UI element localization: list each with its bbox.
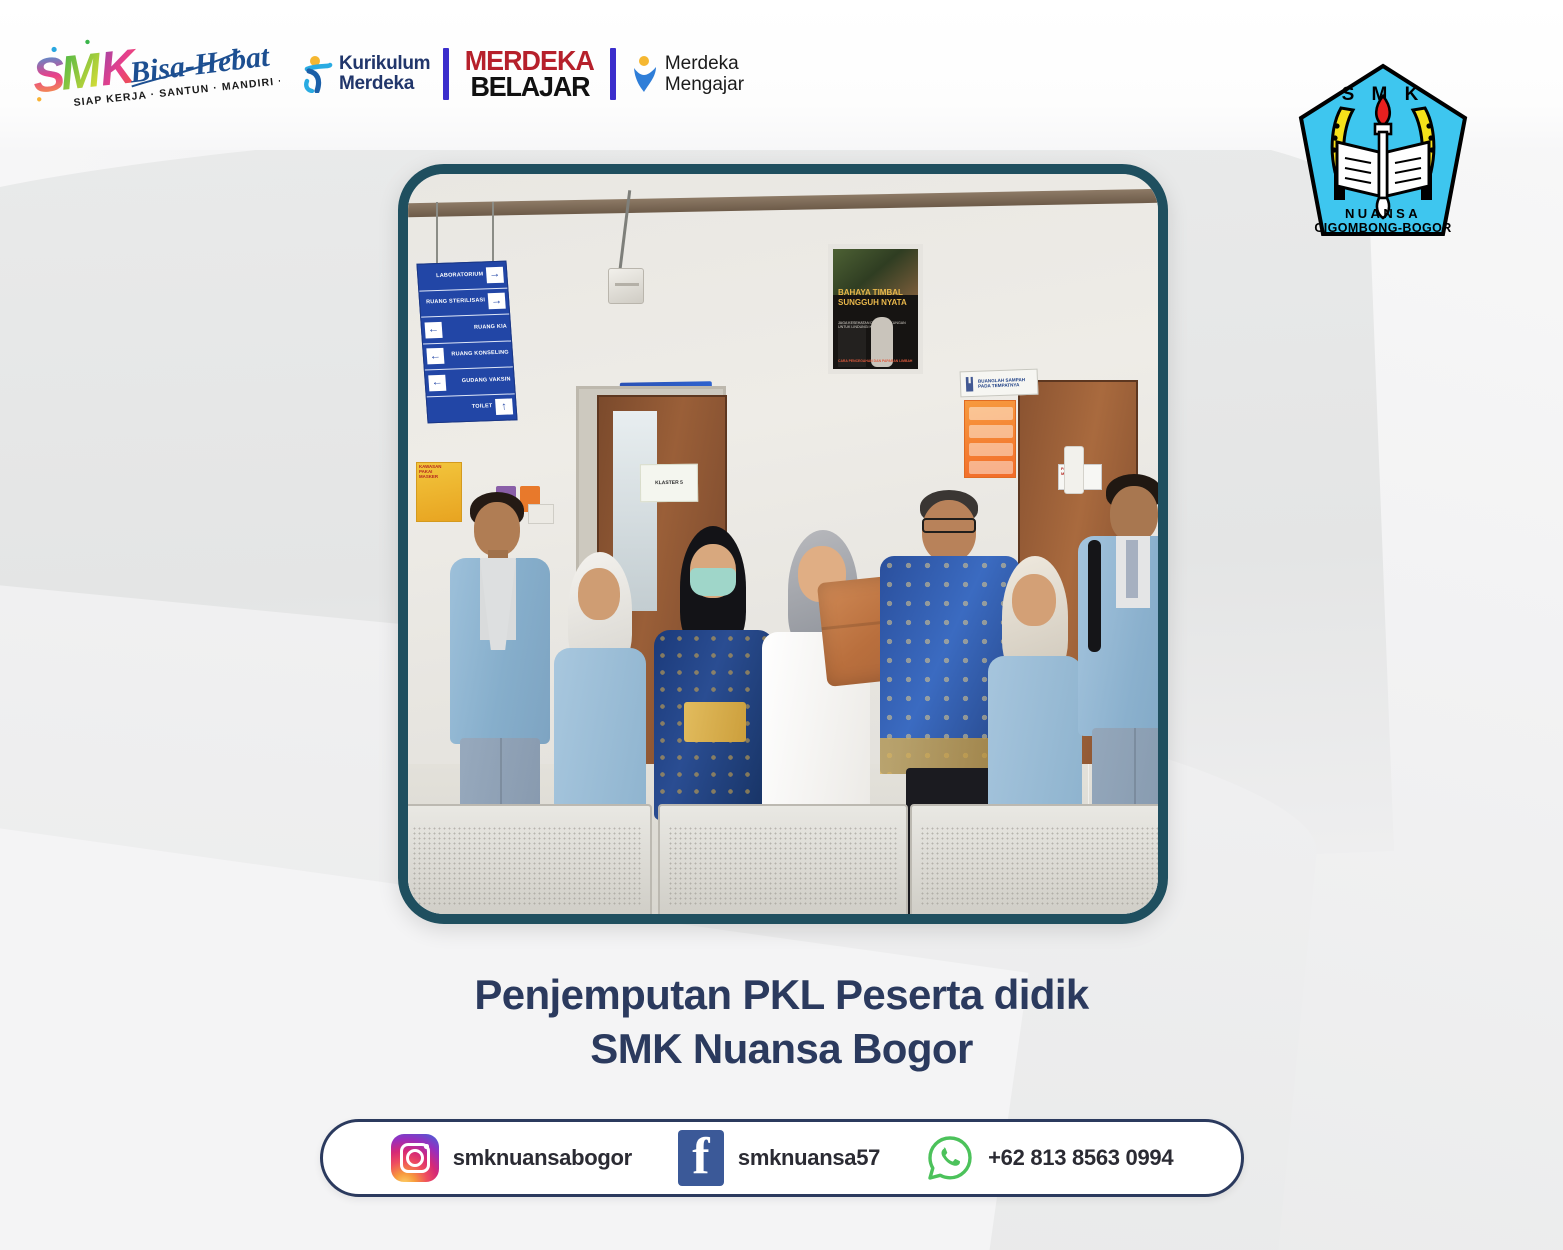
merdeka-logo-group: Kurikulum Merdeka MERDEKA BELAJAR Merdek… [303, 38, 744, 110]
arrow-right-icon: → [486, 266, 504, 283]
contact-bar: smknuansabogor smknuansa57 +62 813 8563 … [320, 1119, 1244, 1197]
merdeka-belajar-line2: BELAJAR [470, 74, 589, 100]
poster-canvas: S M K Bisa-Hebat SIAP KERJA · SANTUN · M… [0, 0, 1563, 1250]
arrow-up-icon: ↑ [495, 399, 513, 416]
facebook-icon[interactable] [678, 1130, 724, 1186]
poster-headline-1: BAHAYA TIMBAL [838, 289, 903, 297]
title-line-1: Penjemputan PKL Peserta didik [0, 968, 1563, 1022]
instagram-handle[interactable]: smknuansabogor [453, 1145, 632, 1171]
arrow-left-icon: ← [428, 375, 446, 392]
sign-label-2: RUANG KIA [445, 324, 507, 332]
merdeka-mengajar-line2: Mengajar [665, 74, 744, 95]
sign-label-5: TOILET [430, 404, 492, 412]
poster-header: S M K Bisa-Hebat SIAP KERJA · SANTUN · M… [0, 0, 1563, 150]
poster-footer: CARA PENCEGAHAN DAN PAPARAN LIMBAH [838, 359, 912, 363]
photo-scene: LABORATORIUM→ RUANG STERILISASI→ ←RUANG … [408, 174, 1158, 914]
poster-headline-2: SUNGGUH NYATA [838, 299, 907, 307]
trash-bin-icon [964, 376, 976, 391]
smk-bisa-hebat-logo: S M K Bisa-Hebat SIAP KERJA · SANTUN · M… [30, 34, 280, 119]
contact-facebook[interactable]: smknuansa57 [678, 1130, 880, 1186]
page-title: Penjemputan PKL Peserta didik SMK Nuansa… [0, 968, 1563, 1076]
svg-text:M: M [58, 44, 104, 101]
whatsapp-number[interactable]: +62 813 8563 0994 [988, 1145, 1173, 1171]
kawasan-line3: MASKER [419, 475, 459, 480]
waiting-bench-2 [658, 804, 908, 914]
svg-text:NUANSA: NUANSA [1345, 206, 1421, 221]
merdeka-mengajar-line1: Merdeka [665, 53, 744, 74]
title-line-2: SMK Nuansa Bogor [0, 1022, 1563, 1076]
svg-text:CIGOMBONG-BOGOR: CIGOMBONG-BOGOR [1314, 221, 1451, 235]
divider-1 [443, 48, 449, 100]
contact-whatsapp[interactable]: +62 813 8563 0994 [926, 1134, 1173, 1182]
trash-sign: BUANGLAH SAMPAH PADA TEMPATNYA [960, 369, 1039, 398]
smk-nuansa-crest: S M K [1293, 60, 1473, 250]
sign-label-4: GUDANG VAKSIN [449, 377, 511, 385]
arrow-left-icon: ← [425, 322, 443, 339]
arrow-left-icon: ← [426, 348, 444, 365]
kurikulum-merdeka-line1: Kurikulum [339, 54, 430, 74]
instagram-icon[interactable] [391, 1134, 439, 1182]
merdeka-mengajar-logo: Merdeka Mengajar [629, 53, 744, 95]
kurikulum-merdeka-logo: Kurikulum Merdeka [303, 54, 430, 94]
contact-instagram[interactable]: smknuansabogor [391, 1134, 632, 1182]
waiting-bench-3 [910, 804, 1158, 914]
wayfinding-sign: LABORATORIUM→ RUANG STERILISASI→ ←RUANG … [416, 261, 517, 424]
door-sign: KLASTER 5 [640, 464, 698, 503]
lead-hazard-poster: BAHAYA TIMBAL SUNGGUH NYATA JAGA KESEHAT… [828, 244, 923, 374]
sign-label-3: RUANG KONSELING [447, 351, 509, 359]
orange-flyer [964, 400, 1016, 478]
arrow-right-icon: → [488, 293, 506, 310]
merdeka-belajar-logo: MERDEKA BELAJAR [462, 48, 597, 100]
sign-label-0: LABORATORIUM [436, 272, 484, 279]
sign-label-1: RUANG STERILISASI [426, 299, 485, 307]
waiting-bench-1 [408, 804, 652, 914]
divider-2 [610, 48, 616, 100]
facebook-handle[interactable]: smknuansa57 [738, 1145, 880, 1171]
kurikulum-merdeka-line2: Merdeka [339, 74, 430, 94]
hanging-wire-2 [492, 202, 494, 270]
pkl-handover-photo: LABORATORIUM→ RUANG STERILISASI→ ←RUANG … [398, 164, 1168, 924]
trash-sign-line2: PADA TEMPATNYA [978, 382, 1019, 388]
merdeka-mengajar-icon [629, 55, 659, 93]
whatsapp-icon[interactable] [926, 1134, 974, 1182]
wall-device [608, 268, 644, 304]
kurikulum-merdeka-icon [303, 55, 333, 93]
